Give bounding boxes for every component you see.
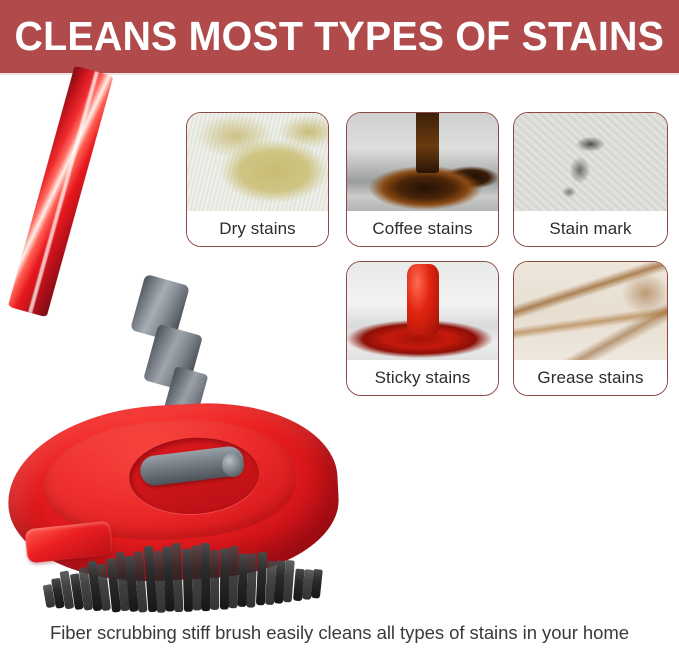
stain-label-dry-stains: Dry stains [187, 211, 328, 246]
bristle-tuft [201, 543, 211, 611]
stain-photo-sticky-stains [347, 262, 498, 366]
stain-card-sticky-stains: Sticky stains [346, 261, 499, 396]
stain-card-stain-mark: Stain mark [513, 112, 668, 247]
header-banner: CLEANS MOST TYPES OF STAINS [0, 0, 679, 73]
stain-card-dry-stains: Dry stains [186, 112, 329, 247]
stain-photo-grease-stains [514, 262, 667, 366]
stain-label-coffee-stains: Coffee stains [347, 211, 498, 246]
stain-label-stain-mark: Stain mark [514, 211, 667, 246]
page-title: CLEANS MOST TYPES OF STAINS [15, 16, 665, 57]
bristle-tuft [311, 569, 323, 599]
stain-photo-dry-stains [187, 113, 328, 217]
bristle-tuft [219, 548, 229, 609]
footer-caption: Fiber scrubbing stiff brush easily clean… [0, 622, 679, 644]
bristle-tuft [210, 550, 219, 610]
brush-bristles [39, 536, 323, 618]
stain-photo-stain-mark [514, 113, 667, 217]
stain-card-grease-stains: Grease stains [513, 261, 668, 396]
stain-label-sticky-stains: Sticky stains [347, 360, 498, 395]
stain-card-coffee-stains: Coffee stains [346, 112, 499, 247]
stain-label-grease-stains: Grease stains [514, 360, 667, 395]
stain-photo-coffee-stains [347, 113, 498, 217]
brush-handle-pole [8, 66, 113, 318]
